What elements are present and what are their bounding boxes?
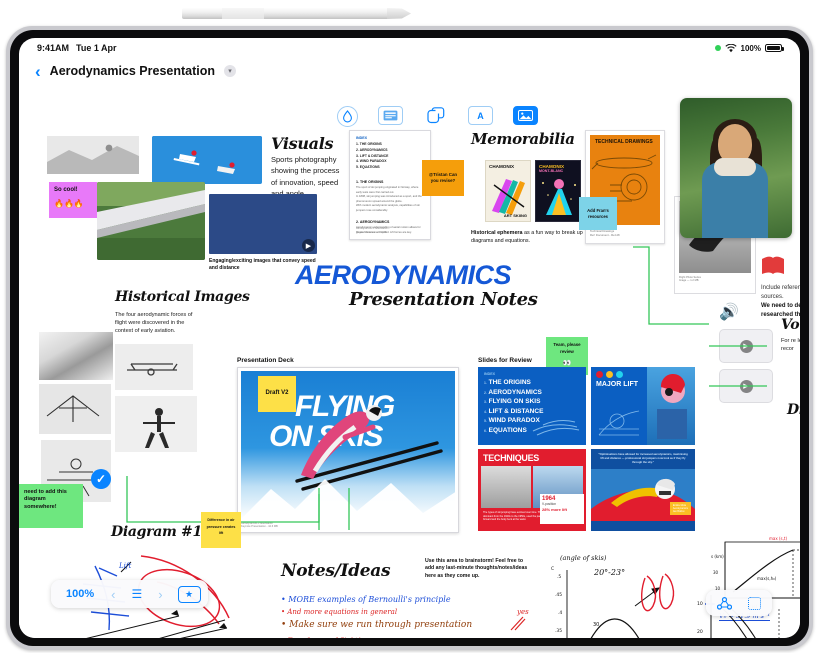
doc-section-2: 2. AERODYNAMICS (356, 220, 424, 224)
status-time: 9:41AM (37, 43, 69, 53)
book-icon (761, 256, 785, 275)
poster-chamonix-right[interactable]: CHAMONIX MONT-BLANC (535, 160, 581, 222)
wifi-icon (725, 44, 737, 53)
status-date: Tue 1 Apr (76, 43, 117, 53)
quote-text: “Optimisations have allowed for increase… (591, 449, 695, 469)
back-button[interactable]: ‹ (35, 63, 41, 80)
chevron-down-icon[interactable]: ▾ (224, 65, 236, 77)
historical-photo-1[interactable] (39, 332, 113, 380)
slide-major-lift[interactable]: MAJOR LIFT (591, 367, 695, 445)
sticky-note-so-cool[interactable]: So cool! 🔥🔥🔥 (49, 182, 97, 218)
slide-quote[interactable]: “Optimisations have allowed for increase… (591, 449, 695, 531)
presentation-deck-footer: Aerodynamics Presentation Keynote Presen… (241, 522, 455, 528)
historical-photo-2[interactable] (115, 344, 193, 390)
stat-year-label: V-position (542, 502, 582, 506)
doc-footer: Aerodynamics Presentation Pages Document… (356, 227, 388, 235)
audio-clip-card-1[interactable]: ▶ (719, 329, 773, 363)
selection-box-icon[interactable] (742, 593, 766, 613)
poster-title: CHAMONIX (486, 161, 530, 169)
visuals-body: Sports photography showing the process o… (271, 154, 347, 199)
status-bar: 9:41AM Tue 1 Apr 100% (19, 38, 800, 58)
sticky-note-text: So cool! (54, 187, 92, 195)
voice-heading: Vo (781, 317, 799, 333)
sticky-note-difference[interactable]: Difference in air pressure creates lift (201, 512, 241, 548)
bottom-right-toolbar (706, 590, 772, 616)
historical-photo-3[interactable] (39, 384, 111, 434)
angle-annotation: ((angle of skis)angle of skis) (560, 554, 606, 562)
note-bullet-1: • MORE examples of Bernoulli's principle (281, 595, 451, 604)
sticky-note-text: Add Fran's resources (584, 208, 612, 219)
index-item: FLYING ON SKIS (489, 398, 541, 405)
film-strip-photo[interactable] (47, 136, 139, 174)
notes-ideas-heading: Notes/Ideas (281, 561, 390, 581)
svg-text:.35: .35 (555, 628, 562, 634)
historical-images-body: The four aerodynamic forces of flight we… (115, 311, 197, 335)
bottom-toolbar: 100% ‹ ☰ › ★ (51, 580, 208, 608)
references-body-light: Include references, print and physical s… (761, 284, 800, 302)
ink-tool[interactable] (337, 106, 358, 127)
visuals-heading: Visuals (271, 134, 333, 153)
svg-text:max (s,t): max (s,t) (769, 536, 787, 541)
diagram-one-heading: Diagram #1 (111, 524, 202, 540)
voice-body: For re lecture group recor (781, 337, 800, 353)
note-bullet-text: Four forces of flight! (287, 637, 360, 638)
note-bullet-text: Make sure we run through presentation (289, 620, 472, 630)
collaboration-icon[interactable] (712, 593, 736, 613)
presentation-deck-label: Presentation Deck (237, 356, 294, 365)
play-button[interactable]: ▶ (740, 380, 753, 393)
poster-chamonix-left[interactable]: CHAMONIX ART SKIING (485, 160, 531, 222)
tool-palette: A (337, 106, 538, 127)
lift-label: Lift (118, 562, 131, 570)
battery-icon (765, 44, 782, 52)
slide-index-label: INDEX (484, 372, 580, 376)
sticky-note-text: @Tristan Can you revise? (427, 172, 459, 183)
index-item: EQUATIONS (489, 427, 527, 434)
technical-drawings-heading: TECHNICAL DRAWINGS (590, 135, 660, 145)
sticky-note-text: Difference in air pressure creates lift (207, 518, 236, 535)
page-title: Aerodynamics Presentation (50, 64, 215, 78)
historical-images-heading: Historical Images (115, 289, 250, 305)
doc-index-label: INDEX (356, 136, 424, 140)
battery-percent: 100% (741, 44, 761, 53)
techniques-title: TECHNIQUES (478, 449, 586, 463)
board-title: AERODYNAMICS (295, 260, 511, 291)
note-tool[interactable] (378, 106, 403, 125)
diagram-right-heading: Di (787, 402, 800, 418)
zoom-level[interactable]: 100% (58, 588, 102, 600)
note-bullet-4: • Four forces of flight! (281, 637, 361, 638)
sticky-note-add-fran[interactable]: Add Fran's resources (579, 197, 617, 230)
poster-subtitle: MONT-BLANC (536, 169, 580, 173)
technical-drawings-footer: Technical Drawings Ref: Document - Ref-4… (590, 229, 660, 237)
svg-text:.4: .4 (558, 610, 562, 616)
sticky-note-add-diagram[interactable]: need to add this diagram somewhere! (19, 484, 83, 528)
speaker-icon[interactable]: 🔊 (719, 302, 739, 322)
favorite-button[interactable]: ★ (178, 586, 201, 603)
navigation-bar: ‹ Aerodynamics Presentation ▾ (19, 58, 800, 84)
sticky-note-text: need to add this diagram somewhere! (24, 489, 67, 510)
svg-text:20: 20 (697, 629, 703, 635)
index-item: THE ORIGINS (489, 379, 531, 386)
note-bullet-text: MORE examples of Bernoulli's principle (288, 595, 450, 604)
apple-pencil (182, 0, 412, 26)
board-subtitle: Presentation Notes (349, 289, 538, 310)
participant-avatar (702, 124, 768, 238)
stat-badge: 1964 V-position 28% more lift (540, 494, 584, 524)
poster-subtitle: ART SKIING (504, 213, 527, 218)
device-screen: 9:41AM Tue 1 Apr 100% ‹ Aerodynamics Pre… (19, 38, 800, 638)
svg-text:30: 30 (593, 622, 599, 628)
parabola-graph[interactable]: .5.45.4 .35.3.05 -5-3-2 0258 C 305090° (549, 562, 679, 638)
memorabilia-caption: Historical ephemera as a fun way to brea… (471, 230, 583, 246)
note-bullet-2: • And more equations in general (281, 608, 397, 616)
pencil-flat-edge (222, 8, 264, 19)
document-card[interactable]: INDEX 1. THE ORIGINS 2. AERODYNAMICS 3. … (349, 130, 431, 240)
sticky-note-draft-v2[interactable]: Draft V2 (258, 376, 296, 412)
pencil-body (182, 8, 392, 19)
quote-attribution: Emilce Mota Aerodynamics Jan Boklov (670, 502, 691, 515)
whiteboard-canvas[interactable]: A Visuals Sports photography showing the… (19, 84, 800, 638)
audio-clip-card-2[interactable]: ▶ (719, 369, 773, 403)
poster-title: CHAMONIX (536, 161, 580, 169)
svg-text:C: C (551, 566, 554, 572)
svg-text:s (km): s (km) (711, 554, 724, 559)
index-item: LIFT & DISTANCE (489, 408, 544, 415)
slide-index[interactable]: INDEX 1. THE ORIGINS 2. AERODYNAMICS 3. … (478, 367, 586, 445)
references-block: Include references, print and physical s… (761, 256, 800, 320)
media-tool[interactable] (513, 106, 538, 125)
video-thumbnail-card[interactable] (209, 194, 317, 254)
green-dot-indicator (715, 45, 721, 51)
prev-button[interactable]: ‹ (104, 587, 122, 602)
play-button[interactable]: ▶ (302, 239, 315, 252)
sticky-note-tristan[interactable]: @Tristan Can you revise? (422, 160, 464, 196)
sticky-note-text: Team, please review (553, 342, 580, 354)
historical-photo-4[interactable] (115, 396, 197, 452)
svg-text:.5: .5 (557, 574, 561, 580)
svg-text:10: 10 (697, 601, 703, 607)
doc-section-1: 1. THE ORIGINS (356, 180, 424, 184)
notes-ideas-hint: Use this area to brainstorm! Feel free t… (425, 558, 533, 580)
memorabilia-heading: Memorabilia (471, 130, 575, 148)
text-tool[interactable]: A (468, 106, 493, 125)
index-item: AERODYNAMICS (488, 389, 541, 396)
device-bezel: 9:41AM Tue 1 Apr 100% ‹ Aerodynamics Pre… (10, 30, 809, 646)
stat-percent: 28% more lift (542, 507, 582, 512)
play-button[interactable]: ▶ (740, 340, 753, 353)
sticky-note-text: Draft V2 (265, 390, 288, 398)
slides-for-review-label: Slides for Review (478, 356, 532, 365)
svg-text:.45: .45 (555, 592, 562, 598)
participant-video[interactable] (680, 98, 792, 238)
annotation-arrow (507, 614, 531, 632)
pencil-tip (387, 8, 411, 19)
memorabilia-caption-bold: Historical ephemera (471, 230, 523, 236)
note-bullet-text: And more equations in general (287, 608, 397, 616)
list-button[interactable]: ☰ (124, 587, 149, 601)
check-badge[interactable]: ✓ (91, 469, 111, 489)
next-button[interactable]: › (151, 587, 169, 602)
sticky-note-emoji: 🔥🔥🔥 (54, 199, 92, 209)
ski-jump-photo[interactable] (97, 182, 205, 260)
svg-text:max(s,h₀): max(s,h₀) (757, 576, 777, 581)
svg-text:30: 30 (713, 570, 719, 575)
skier-photo-top[interactable] (152, 136, 262, 184)
shape-tool[interactable] (423, 106, 448, 125)
note-bullet-3: • Make sure we run through presentation (281, 620, 472, 630)
ipad-device: 9:41AM Tue 1 Apr 100% ‹ Aerodynamics Pre… (6, 26, 813, 650)
